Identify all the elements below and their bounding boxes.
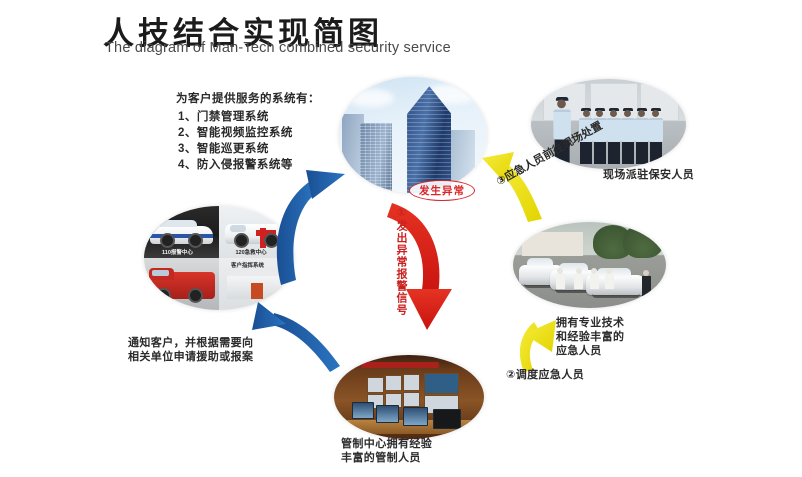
caption-guards: 现场派驻保安人员 <box>603 168 694 182</box>
collage-label-110: 110报警中心 <box>162 248 193 256</box>
truck-window <box>152 270 169 276</box>
ambulance <box>225 224 288 245</box>
blue-arrow-notify <box>252 302 340 372</box>
systems-heading: 为客户提供服务的系统有： <box>176 92 320 107</box>
step-2-label: ②调度应急人员 <box>506 368 584 382</box>
cloud-shape <box>348 89 394 107</box>
officer-figure <box>590 268 599 289</box>
patrol-cars-photo <box>513 222 666 308</box>
yellow-arrow-dispatch <box>520 320 556 372</box>
video-wall <box>424 373 459 393</box>
wall-monitor <box>403 392 420 407</box>
secondary-tower <box>360 123 393 193</box>
desk-monitor <box>433 409 461 429</box>
caption-notify-client: 通知客户，并根据需要向 相关单位申请援助或报案 <box>128 336 253 364</box>
skyscraper-photo <box>339 77 487 193</box>
diagram-canvas: 人技结合实现简图 The diagram of Man-Tech combine… <box>0 0 802 477</box>
police-car <box>150 226 213 245</box>
police-car-quadrant: 110报警中心 <box>144 206 219 258</box>
desk-monitor <box>352 402 374 419</box>
fire-truck <box>149 272 215 299</box>
desk-monitor <box>376 405 399 423</box>
wall-backdrop <box>522 232 583 256</box>
ceiling-band <box>361 362 439 368</box>
ambulance-wheel <box>264 233 279 248</box>
truck-wheel <box>156 288 171 303</box>
caption-control-center: 管制中心拥有经验 丰富的管制人员 <box>341 437 432 465</box>
collage-label-120: 120急救中心 <box>236 248 267 256</box>
officer-figure <box>642 270 651 296</box>
status-badge-abnormal: 发生异常 <box>409 180 475 201</box>
collage-label-command: 客户指挥系统 <box>231 261 264 269</box>
palm-tree <box>623 224 663 258</box>
caption-responders: 拥有专业技术 和经验丰富的 应急人员 <box>556 316 624 358</box>
page-subtitle: The diagram of Man-Tech combined securit… <box>105 40 451 56</box>
systems-item-1: 1、门禁管理系统 <box>178 110 269 125</box>
car-wheel <box>188 233 203 248</box>
car-window <box>159 220 197 227</box>
officer-figure <box>556 268 565 289</box>
officer-figure <box>574 268 583 289</box>
truck-wheel <box>188 288 203 303</box>
emergency-vehicles-collage: 110报警中心 120急救中心 客 <box>144 206 294 310</box>
ambulance-wheel <box>234 233 249 248</box>
ambulance-window <box>230 225 246 232</box>
control-room-photo <box>334 355 484 439</box>
desk-monitor <box>403 407 428 426</box>
command-post-quadrant: 客户指挥系统 <box>219 258 294 310</box>
systems-item-2: 2、智能视频监控系统 <box>178 126 293 141</box>
ambulance-quadrant: 120急救中心 <box>219 206 294 258</box>
wall-monitor <box>403 374 420 390</box>
guard-figure <box>647 108 664 164</box>
command-tent <box>227 276 287 299</box>
car-wheel <box>160 233 175 248</box>
officer-figure <box>605 268 614 289</box>
wall-monitor <box>385 375 402 391</box>
fire-truck-quadrant <box>144 258 219 310</box>
tent-door <box>251 283 263 299</box>
step-1-label: ①发出异常报警信号 <box>393 206 409 316</box>
wall-monitor <box>367 377 384 393</box>
systems-item-4: 4、防入侵报警系统等 <box>178 158 293 173</box>
systems-item-3: 3、智能巡更系统 <box>178 142 269 157</box>
guard-head <box>557 100 566 109</box>
